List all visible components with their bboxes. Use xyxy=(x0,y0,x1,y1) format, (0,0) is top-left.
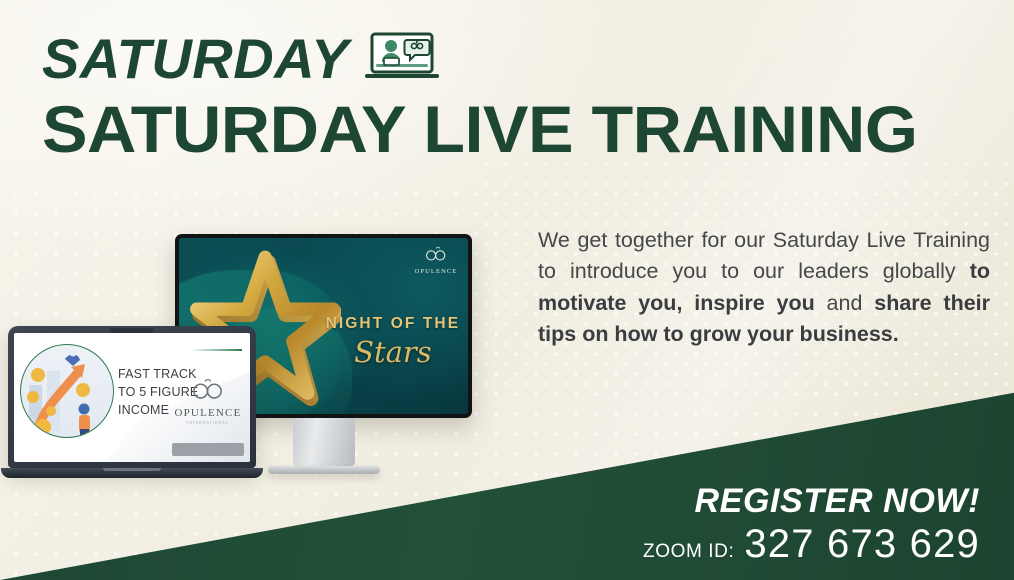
laptop-base-deck xyxy=(1,468,263,478)
monitor-stand-base xyxy=(268,466,380,474)
zoom-id-value[interactable]: 327 673 629 xyxy=(744,524,980,564)
laptop-mockup: FAST TRACK TO 5 FIGURE INCOME OPULENCE I… xyxy=(8,326,256,478)
kicker-text: SATURDAY xyxy=(42,31,349,87)
growth-illustration xyxy=(20,344,114,438)
page-title: SATURDAY LIVE TRAINING xyxy=(42,96,1007,163)
description-part2: and xyxy=(815,291,874,315)
register-now-label[interactable]: REGISTER NOW! xyxy=(643,483,980,520)
heading-group: SATURDAY SATURDAY LIVE TRAINING xyxy=(42,28,974,163)
kicker-row: SATURDAY xyxy=(42,28,974,90)
cta-group: REGISTER NOW! ZOOM ID: 327 673 629 xyxy=(643,483,980,564)
monitor-title: NIGHT OF THE xyxy=(324,315,463,333)
monitor-stand-neck xyxy=(293,418,355,466)
laptop-lid: FAST TRACK TO 5 FIGURE INCOME OPULENCE I… xyxy=(8,326,256,468)
opulence-logo-name-monitor: OPULENCE xyxy=(411,268,461,275)
monitor-script-text: Stars xyxy=(324,338,463,367)
opulence-logo-monitor: OPULENCE xyxy=(411,246,461,275)
laptop-screen-button xyxy=(172,443,244,456)
zoom-id-row: ZOOM ID: 327 673 629 xyxy=(643,524,980,564)
webinar-presentation-icon xyxy=(363,31,441,88)
opulence-logo-name-laptop: OPULENCE xyxy=(170,407,246,419)
opulence-logo-sub-laptop: INTERNATIONAL xyxy=(170,421,246,425)
laptop-accent-line xyxy=(190,349,242,351)
description-part1: We get together for our Saturday Live Tr… xyxy=(538,228,990,284)
opulence-rings-icon-laptop xyxy=(187,377,229,401)
promo-banner: SATURDAY SATURDAY LIVE TRAINING We get t xyxy=(0,0,1014,580)
description-paragraph: We get together for our Saturday Live Tr… xyxy=(538,225,990,351)
laptop-screen: FAST TRACK TO 5 FIGURE INCOME OPULENCE I… xyxy=(14,333,250,462)
zoom-id-label: ZOOM ID: xyxy=(643,541,734,563)
opulence-rings-icon xyxy=(422,246,450,262)
opulence-logo-laptop: OPULENCE INTERNATIONAL xyxy=(170,377,246,425)
